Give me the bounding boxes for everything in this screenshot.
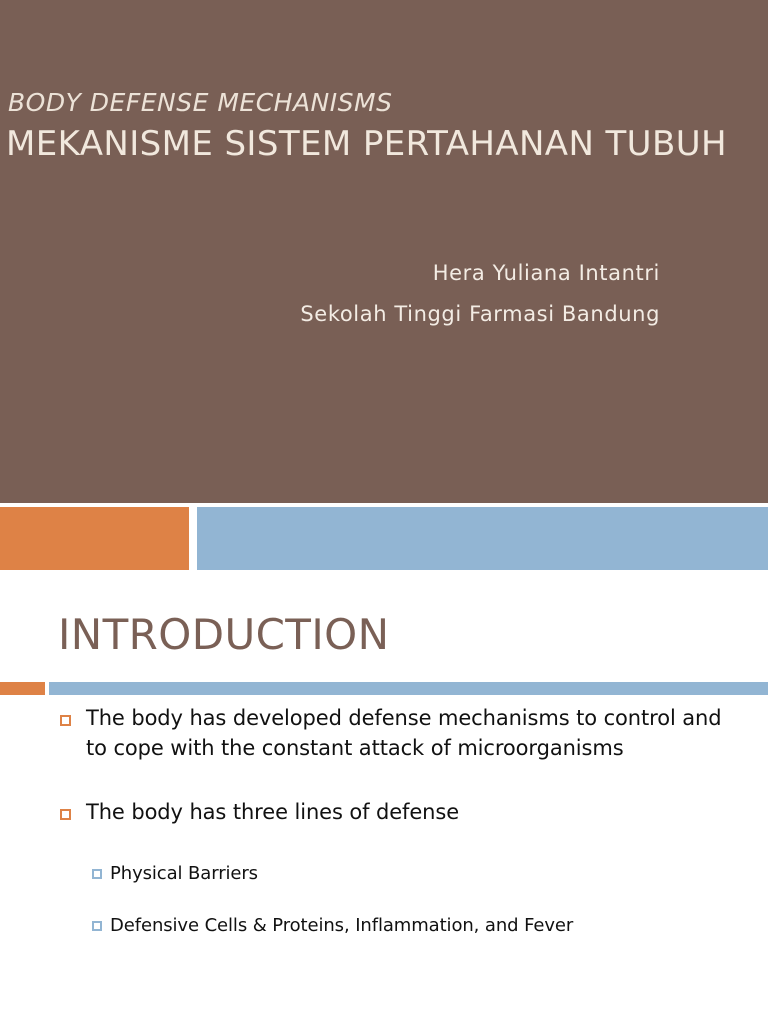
list-item-label: Physical Barriers <box>110 861 258 886</box>
band-accent-orange <box>0 507 189 570</box>
list-item-label: Defensive Cells & Proteins, Inflammation… <box>110 913 573 938</box>
list-item: Defensive Cells & Proteins, Inflammation… <box>0 913 768 938</box>
square-bullet-icon <box>92 921 102 931</box>
author-name: Hera Yuliana Intantri <box>0 253 660 294</box>
divider-accent-orange <box>0 682 45 695</box>
band-accent-blue <box>197 507 768 570</box>
list-item: The body has three lines of defense <box>0 797 768 827</box>
content-slide: INTRODUCTION The body has developed defe… <box>0 570 768 1024</box>
title-slide: BODY DEFENSE MECHANISMS MEKANISME SISTEM… <box>0 0 768 503</box>
page-title: MEKANISME SISTEM PERTAHANAN TUBUH <box>6 124 727 164</box>
heading-divider <box>0 682 768 695</box>
square-bullet-icon <box>60 809 71 820</box>
square-bullet-icon <box>60 715 71 726</box>
divider-accent-blue <box>49 682 768 695</box>
title-eyebrow: BODY DEFENSE MECHANISMS <box>8 88 392 117</box>
square-bullet-icon <box>92 869 102 879</box>
bullet-list: The body has developed defense mechanism… <box>0 703 768 965</box>
title-subtitle-block: Hera Yuliana Intantri Sekolah Tinggi Far… <box>0 253 660 335</box>
slide-separator-band <box>0 507 768 570</box>
section-heading: INTRODUCTION <box>58 610 389 659</box>
list-item-label: The body has developed defense mechanism… <box>86 703 734 763</box>
list-item: Physical Barriers <box>0 861 768 886</box>
list-item-label: The body has three lines of defense <box>86 797 459 827</box>
list-item: The body has developed defense mechanism… <box>0 703 768 763</box>
institution-name: Sekolah Tinggi Farmasi Bandung <box>0 294 660 335</box>
